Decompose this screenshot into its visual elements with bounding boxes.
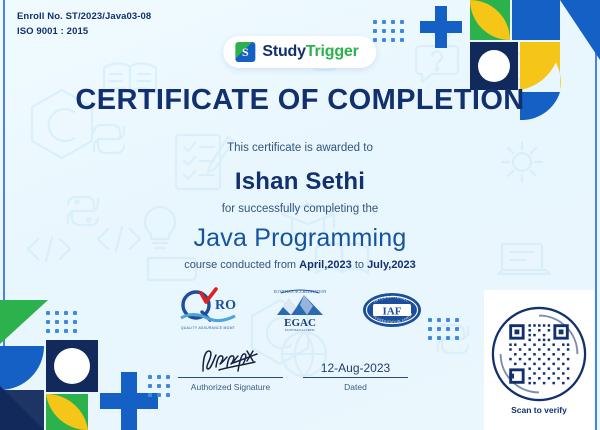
duration-end: July,2023 [367,259,416,271]
brand-logo: S StudyTrigger [223,36,376,68]
qr-code-icon[interactable] [491,306,587,402]
duration-prefix: course conducted from [184,259,296,271]
recipient-name: Ishan Sethi [0,168,600,196]
studytrigger-logo-icon: S [235,42,255,62]
qro-accreditation-badge: RO QUALITY ASSURANCE MGMT [177,286,239,334]
course-duration: course conducted from April,2023 to July… [0,259,600,271]
iaf-accreditation-badge: IAF INTERNATIONAL ACCREDITATION FORUM [361,286,423,334]
svg-text:RO: RO [215,298,236,313]
iaf-logo-icon: IAF INTERNATIONAL ACCREDITATION FORUM [361,290,423,330]
svg-text:IAF: IAF [383,306,402,318]
date-rule [303,377,408,378]
brand-name-part1: Study [262,43,305,60]
svg-text:EGYPTIAN ACCRED.: EGYPTIAN ACCRED. [285,328,315,332]
completion-label: for successfully completing the [0,203,600,215]
iso-standard: ISO 9001 : 2015 [17,24,151,39]
svg-text:QUALITY ASSURANCE MGMT: QUALITY ASSURANCE MGMT [181,326,235,330]
duration-start: April,2023 [299,259,352,271]
egac-accreditation-badge: EGYPTIAN ACCREDITATION EGAC EGYPTIAN ACC… [269,286,331,334]
dot-grid-top-right [373,20,404,42]
course-name: Java Programming [0,224,600,253]
white-circle [478,50,510,82]
date-block: 12-Aug-2023 Dated [303,345,408,392]
svg-text:EGYPTIAN ACCREDITATION: EGYPTIAN ACCREDITATION [274,289,327,294]
certificate-meta: Enroll No. ST/2023/Java03-08 ISO 9001 : … [17,9,151,39]
qro-logo-icon: RO QUALITY ASSURANCE MGMT [177,287,239,333]
date-caption: Dated [303,382,408,392]
dot-grid-signature-left [148,375,170,397]
authorized-signature-caption: Authorized Signature [178,382,283,392]
signature-image [178,345,283,375]
enroll-number: Enroll No. ST/2023/Java03-08 [17,9,151,24]
certificate-title: CERTIFICATE OF COMPLETION [0,84,600,117]
duration-joiner: to [355,259,364,271]
signature-rule [178,377,283,378]
handwritten-signature-icon [195,345,267,375]
brand-name: StudyTrigger [262,43,358,61]
brand-name-part2: Trigger [306,43,359,60]
authorized-signature-block: Authorized Signature [178,345,283,392]
egac-logo-icon: EGYPTIAN ACCREDITATION EGAC EGYPTIAN ACC… [269,287,331,333]
qr-caption: Scan to verify [511,405,567,415]
white-circle [54,348,90,384]
logo-mark-letter: S [242,46,249,58]
blue-cross-top-right [420,6,462,48]
issue-date: 12-Aug-2023 [303,345,408,375]
certificate-document: Enroll No. ST/2023/Java03-08 ISO 9001 : … [0,0,600,430]
signature-section: Authorized Signature 12-Aug-2023 Dated [178,345,408,392]
awarded-label: This certificate is awarded to [0,142,600,154]
qr-verification-panel[interactable]: Scan to verify [484,290,594,430]
